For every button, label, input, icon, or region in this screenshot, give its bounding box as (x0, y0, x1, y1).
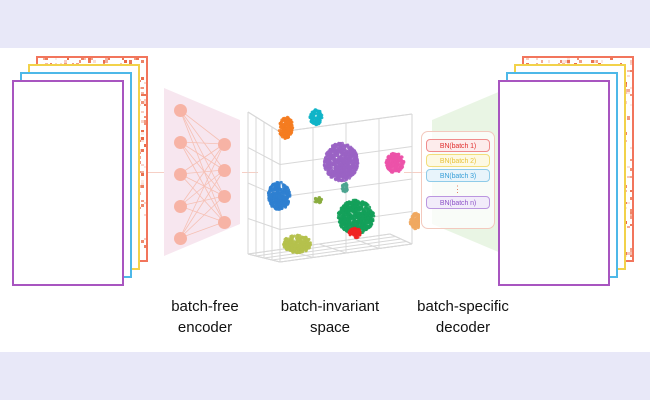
cluster-point (342, 159, 345, 162)
cluster-point (282, 128, 285, 131)
cluster-point (282, 191, 285, 194)
cluster-point (346, 144, 349, 147)
cluster-point (365, 206, 368, 209)
cluster-point (305, 247, 308, 250)
cluster-point (349, 175, 352, 178)
cluster-point (355, 204, 358, 207)
cluster-point (394, 161, 397, 164)
cluster-point (344, 167, 347, 170)
encoder-input-node (174, 104, 187, 117)
cluster-point (273, 188, 276, 191)
cluster-point (352, 165, 355, 168)
cluster-point (355, 236, 358, 239)
cluster-point (280, 133, 283, 136)
input-matrix-stack (6, 56, 154, 288)
cluster-point (347, 205, 350, 208)
cluster-point (347, 226, 350, 229)
batch-free-encoder (162, 86, 248, 258)
cluster-point (352, 209, 355, 212)
cluster-point (274, 184, 277, 187)
cluster-point (341, 209, 344, 212)
cluster-point (330, 163, 333, 166)
cluster-point (330, 174, 333, 177)
cluster-point (343, 219, 346, 222)
matrix-sheet (498, 80, 610, 286)
cluster-point (391, 156, 394, 159)
cluster-point (354, 199, 357, 202)
tan-cluster (409, 212, 420, 231)
encoder-input-node (174, 168, 187, 181)
bn-box-batch-2: BN(batch 2) (426, 154, 490, 167)
cluster-point (340, 207, 343, 210)
cluster-point (326, 168, 329, 171)
cluster-point (285, 199, 288, 202)
cluster-point (277, 193, 280, 196)
caption-decoder-line2: decoder (393, 317, 533, 338)
cluster-point (360, 224, 363, 227)
cluster-point (352, 149, 355, 152)
cluster-point (287, 194, 290, 197)
cluster-point (344, 189, 347, 192)
latent-axes (240, 84, 420, 264)
cluster-point (309, 113, 312, 116)
cluster-point (288, 248, 291, 251)
cluster-point (339, 212, 342, 215)
bn-box-batch-n: BN(batch n) (426, 196, 490, 209)
cluster-point (272, 192, 275, 195)
cluster-point (347, 159, 350, 162)
cluster-point (349, 146, 352, 149)
cluster-point (387, 160, 390, 163)
cluster-point (338, 146, 341, 149)
cluster-point (323, 160, 326, 163)
cluster-point (290, 244, 293, 247)
caption-encoder-line2: encoder (135, 317, 275, 338)
cluster-point (318, 110, 321, 113)
olive-cluster (282, 234, 312, 255)
cluster-point (284, 206, 287, 209)
cluster-point (277, 185, 280, 188)
cluster-point (333, 164, 336, 167)
cluster-point (359, 206, 362, 209)
cluster-point (354, 170, 357, 173)
cluster-point (415, 218, 418, 221)
cluster-point (347, 153, 350, 156)
cluster-point (285, 187, 288, 190)
cluster-point (309, 243, 312, 246)
cluster-point (332, 151, 335, 154)
cluster-point (345, 156, 348, 159)
cluster-point (303, 237, 306, 240)
cluster-point (391, 153, 394, 156)
cluster-point (276, 204, 279, 207)
cluster-point (291, 127, 294, 130)
cluster-point (340, 225, 343, 228)
magenta-cluster (385, 152, 406, 174)
cluster-point (315, 121, 318, 124)
cluster-point (398, 156, 401, 159)
cluster-point (344, 224, 347, 227)
cluster-point (395, 165, 398, 168)
purple-cluster (323, 142, 360, 182)
cluster-point (282, 118, 285, 121)
cluster-point (387, 155, 390, 158)
cluster-point (364, 212, 367, 215)
matrix-sheet (12, 80, 124, 286)
cluster-point (355, 209, 358, 212)
cluster-point (362, 209, 365, 212)
output-matrix-stack (492, 56, 640, 288)
cluster-point (270, 197, 273, 200)
cluster-point (284, 184, 287, 187)
cluster-point (298, 234, 301, 237)
cluster-point (371, 212, 374, 215)
bottom-band (0, 352, 650, 400)
cluster-point (338, 149, 341, 152)
cluster-point (339, 167, 342, 170)
cluster-point (411, 215, 414, 218)
cluster-point (353, 214, 356, 217)
cluster-point (279, 205, 282, 208)
cluster-point (344, 174, 347, 177)
cluster-point (337, 159, 340, 162)
cluster-point (337, 142, 340, 145)
cluster-point (287, 237, 290, 240)
figure-canvas: BN(batch 1) BN(batch 2) BN(batch 3) ⋮ BN… (0, 0, 650, 400)
cluster-point (357, 217, 360, 220)
blue-cluster (267, 181, 292, 211)
cluster-point (333, 160, 336, 163)
cluster-point (353, 228, 356, 231)
purple-satellite (341, 182, 349, 193)
cluster-point (306, 240, 309, 243)
cluster-point (286, 116, 289, 119)
cluster-point (355, 160, 358, 163)
cluster-point (347, 201, 350, 204)
cluster-point (280, 124, 283, 127)
bn-box-batch-3: BN(batch 3) (426, 169, 490, 182)
cluster-point (328, 165, 331, 168)
cluster-point (370, 222, 373, 225)
cluster-point (349, 171, 352, 174)
bn-ellipsis: ⋮ (426, 184, 490, 194)
cluster-point (305, 249, 308, 252)
sliver-cluster (314, 196, 324, 204)
cluster-point (411, 224, 414, 227)
top-band (0, 0, 650, 48)
cluster-point (410, 220, 413, 223)
cluster-point (269, 192, 272, 195)
cluster-point (350, 203, 353, 206)
cluster-point (291, 124, 294, 127)
cluster-point (274, 199, 277, 202)
cluster-point (280, 202, 283, 205)
cluster-point (285, 118, 288, 121)
cluster-point (394, 169, 397, 172)
cluster-point (289, 241, 292, 244)
caption-latent-space: batch-invariant space (260, 296, 400, 338)
cluster-point (291, 247, 294, 250)
cluster-point (356, 165, 359, 168)
caption-encoder: batch-free encoder (135, 296, 275, 338)
cluster-point (297, 250, 300, 253)
cluster-point (285, 244, 288, 247)
cluster-point (351, 155, 354, 158)
cluster-point (323, 163, 326, 166)
cluster-point (300, 248, 303, 251)
cluster-point (356, 232, 359, 235)
cluster-point (366, 225, 369, 228)
cluster-point (326, 161, 329, 164)
cluster-point (345, 208, 348, 211)
caption-decoder-line1: batch-specific (393, 296, 533, 317)
cluster-point (415, 222, 418, 225)
cluster-point (415, 212, 418, 215)
cluster-point (318, 199, 321, 202)
cluster-point (347, 168, 350, 171)
cluster-point (338, 220, 341, 223)
cluster-point (270, 189, 273, 192)
cluster-point (270, 203, 273, 206)
encoder-hidden-node (218, 216, 231, 229)
cluster-point (386, 166, 389, 169)
cluster-point (362, 217, 365, 220)
cluster-point (368, 206, 371, 209)
cluster-point (295, 237, 298, 240)
cluster-point (370, 219, 373, 222)
cluster-point (329, 149, 332, 152)
cluster-point (344, 214, 347, 217)
cluster-point (352, 223, 355, 226)
cluster-point (303, 243, 306, 246)
caption-latent-line2: space (260, 317, 400, 338)
cluster-point (331, 146, 334, 149)
cluster-point (355, 212, 358, 215)
cluster-point (401, 156, 404, 159)
cluster-point (335, 154, 338, 157)
cluster-point (335, 172, 338, 175)
encoder-input-node (174, 232, 187, 245)
cluster-point (320, 115, 323, 118)
cluster-point (343, 148, 346, 151)
cluster-point (366, 222, 369, 225)
cluster-point (397, 161, 400, 164)
cluster-point (413, 227, 416, 230)
cluster-point (278, 181, 281, 184)
cluster-point (329, 152, 332, 155)
cluster-point (272, 197, 275, 200)
cluster-point (287, 125, 290, 128)
encoder-hidden-node (218, 164, 231, 177)
encoder-hidden-node (218, 190, 231, 203)
batch-norm-group: BN(batch 1) BN(batch 2) BN(batch 3) ⋮ BN… (421, 131, 495, 229)
cluster-point (355, 153, 358, 156)
cluster-point (270, 200, 273, 203)
cluster-point (395, 157, 398, 160)
batch-invariant-space (240, 84, 420, 264)
cluster-point (340, 163, 343, 166)
cluster-point (315, 118, 318, 121)
cluster-point (334, 178, 337, 181)
cluster-point (357, 229, 360, 232)
cluster-point (349, 233, 352, 236)
teal-cluster (309, 108, 324, 126)
cluster-point (284, 135, 287, 138)
cluster-point (331, 170, 334, 173)
cluster-point (355, 220, 358, 223)
cluster-point (326, 151, 329, 154)
encoder-hidden-node (218, 138, 231, 151)
cluster-point (334, 169, 337, 172)
cluster-point (345, 184, 348, 187)
cluster-point (324, 156, 327, 159)
cluster-point (279, 197, 282, 200)
cluster-point (341, 179, 344, 182)
encoder-input-node (174, 136, 187, 149)
encoder-input-node (174, 200, 187, 213)
cluster-point (283, 196, 286, 199)
cluster-point (340, 155, 343, 158)
cluster-point (282, 243, 285, 246)
cluster-point (299, 241, 302, 244)
caption-decoder: batch-specific decoder (393, 296, 533, 338)
cluster-point (313, 110, 316, 113)
cluster-point (349, 150, 352, 153)
cluster-point (361, 201, 364, 204)
cluster-point (329, 155, 332, 158)
cluster-point (288, 131, 291, 134)
cluster-point (277, 208, 280, 211)
matrix-heatmap (500, 82, 608, 284)
cluster-point (289, 121, 292, 124)
cluster-point (417, 214, 420, 217)
cluster-point (400, 167, 403, 170)
cluster-point (314, 197, 317, 200)
cluster-point (290, 235, 293, 238)
cluster-point (348, 212, 351, 215)
cluster-point (398, 169, 401, 172)
caption-latent-line1: batch-invariant (260, 296, 400, 317)
caption-encoder-line1: batch-free (135, 296, 275, 317)
cluster-point (296, 240, 299, 243)
bn-box-batch-1: BN(batch 1) (426, 139, 490, 152)
cluster-point (296, 243, 299, 246)
cluster-point (284, 130, 287, 133)
matrix-heatmap (14, 82, 122, 284)
